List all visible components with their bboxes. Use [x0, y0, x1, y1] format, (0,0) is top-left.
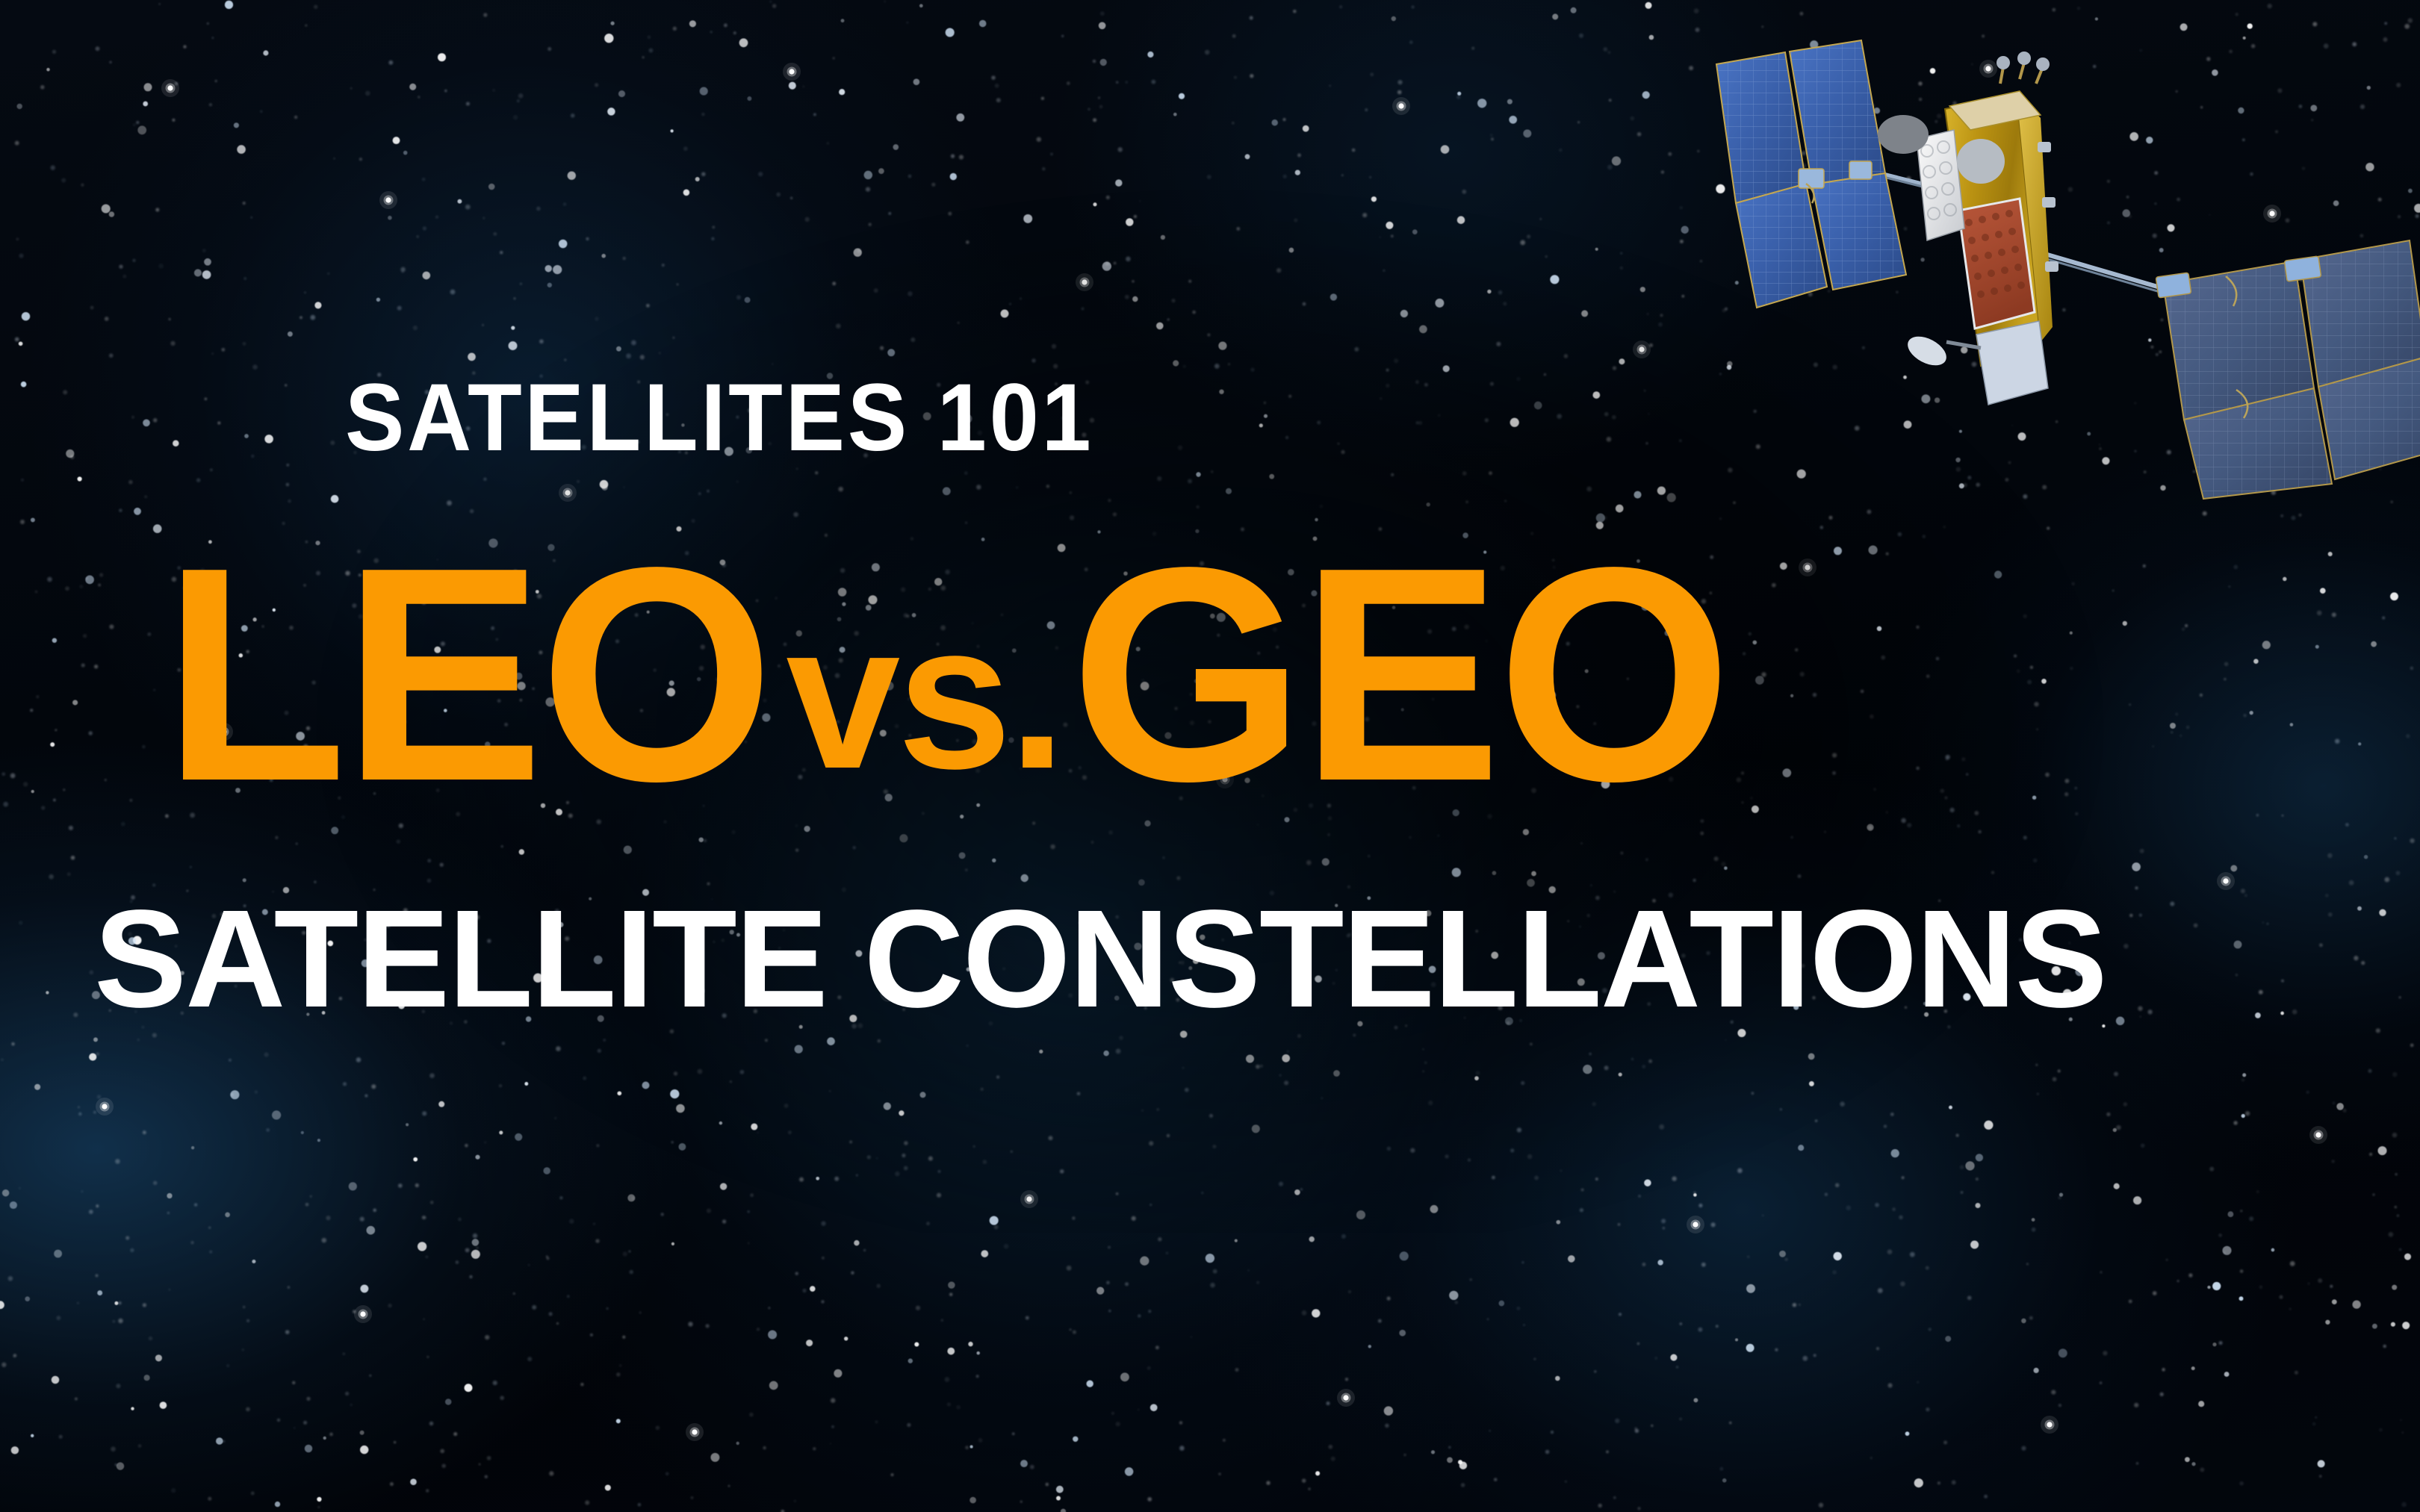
iridium-logo: iridium ® [885, 1305, 1505, 1447]
logo-dot-6 [1064, 1446, 1103, 1484]
headline-geo: GEO [1070, 505, 1728, 844]
logo-dot-5 [1024, 1429, 1063, 1468]
registered-trademark-icon: ® [1438, 1344, 1461, 1375]
page-subtitle: SATELLITE CONSTELLATIONS [94, 890, 2106, 1029]
logo-dot-4 [1024, 1387, 1063, 1426]
poster-text-block: SATELLITES 101 LEOvs.GEO SATELLITE CONST… [0, 0, 2420, 1512]
eyebrow-label: SATELLITES 101 [345, 370, 1093, 466]
page-title: LEOvs.GEO [163, 523, 1728, 827]
headline-leo: LEO [163, 505, 770, 844]
headline-vs: vs. [770, 579, 1070, 812]
poster-canvas: SATELLITES 101 LEOvs.GEO SATELLITE CONST… [0, 0, 2420, 1512]
iridium-wordmark: iridium [1111, 1310, 1470, 1435]
logo-dot-3 [987, 1351, 1027, 1392]
logo-dot-1 [887, 1323, 925, 1362]
logo-dot-2 [940, 1313, 984, 1356]
